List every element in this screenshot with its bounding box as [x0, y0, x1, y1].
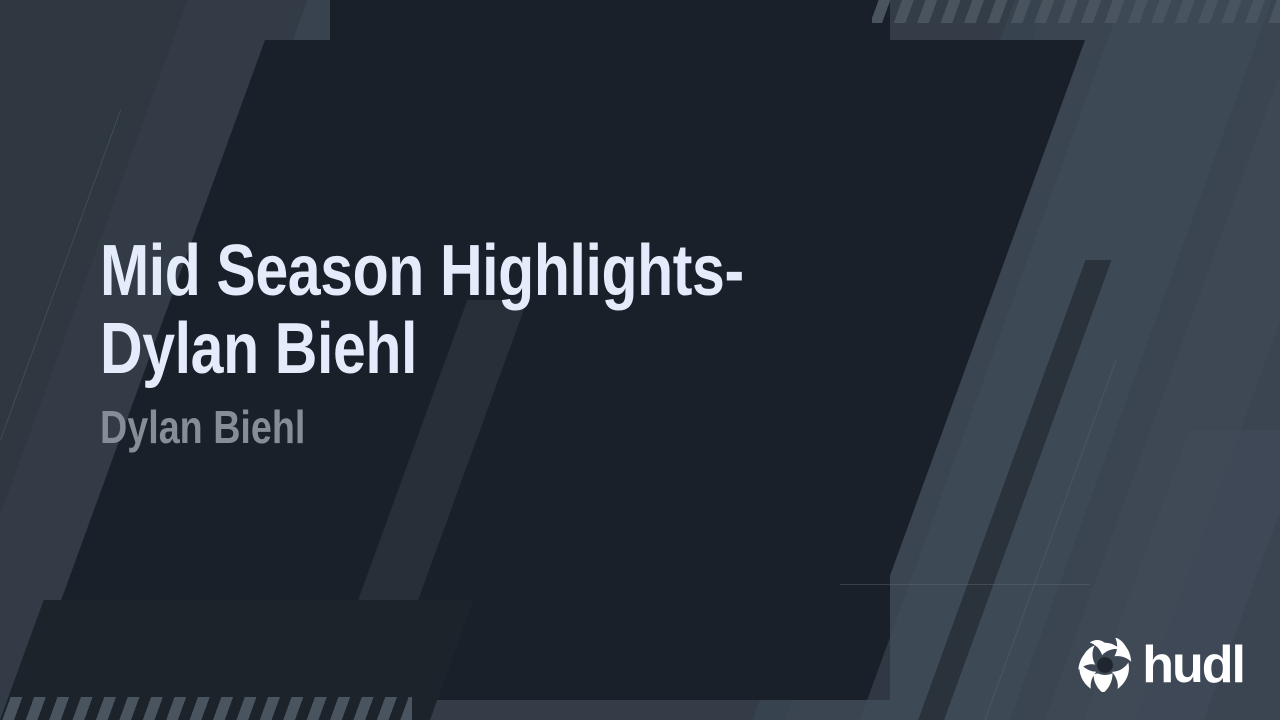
hudl-logo: hudl: [1078, 638, 1244, 692]
hudl-wordmark: hudl: [1142, 639, 1244, 691]
title-block: Mid Season Highlights-Dylan Biehl Dylan …: [100, 232, 920, 452]
hudl-shield-icon: [1078, 638, 1132, 692]
background-hairline-horizontal: [840, 584, 1090, 585]
video-title: Mid Season Highlights-Dylan Biehl: [100, 232, 772, 388]
highlight-title-card: Mid Season Highlights-Dylan Biehl Dylan …: [0, 0, 1280, 720]
hatch-band-top-right: [872, 0, 1280, 23]
athlete-name: Dylan Biehl: [100, 402, 772, 452]
hatch-band-bottom-left: [0, 697, 412, 720]
